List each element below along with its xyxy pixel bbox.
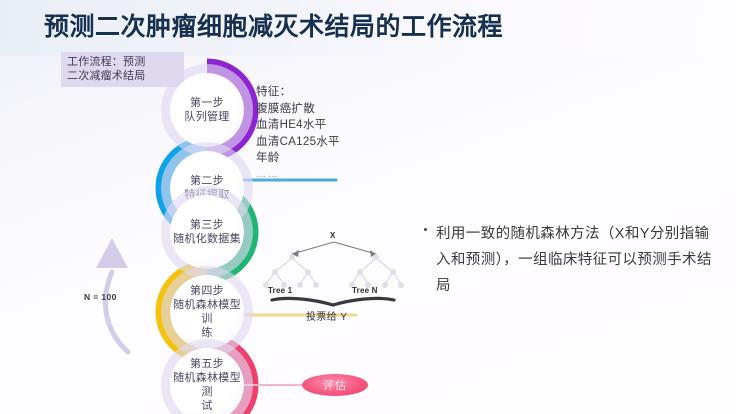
feature-ellipsis: ……	[256, 167, 340, 184]
tree-n-label: Tree N	[352, 286, 378, 295]
feature-item-2: 血清CA125水平	[256, 134, 340, 151]
evaluation-pill[interactable]: 评估	[302, 374, 368, 396]
node-step-5-line2: 随机森林模型测	[170, 371, 244, 399]
bullet-block: 利用一致的随机森林方法（X和Y分别指输入和预测），一组临床特征可以预测手术结局	[424, 221, 716, 299]
slide-canvas: 预测二次肿瘤细胞减灭术结局的工作流程 工作流程：预测 二次减瘤术结局	[0, 0, 736, 414]
node-step-5-line1: 第五步	[190, 357, 224, 371]
random-forest-tree-diagram	[263, 242, 404, 305]
feature-item-3: 年龄	[256, 150, 340, 167]
node-step-3-line1: 第三步	[190, 218, 224, 232]
node-step-5-line3: 试	[201, 399, 212, 413]
node-step-1-line1: 第一步	[190, 96, 224, 110]
feature-list: 特征： 腹膜癌扩散 血清HE4水平 血清CA125水平 年龄 ……	[256, 84, 340, 183]
node-step-5[interactable]: 第五步 随机森林模型测 试	[170, 348, 244, 414]
node-step-3-line2: 随机化数据集	[173, 232, 241, 246]
feature-heading: 特征：	[256, 84, 340, 101]
feature-item-1: 血清HE4水平	[256, 117, 340, 134]
tree-1-label: Tree 1	[268, 286, 292, 295]
bullet-dot-icon	[424, 228, 427, 231]
node-step-3[interactable]: 第三步 随机化数据集	[170, 195, 244, 269]
vote-y-label: 投票给 Y	[306, 308, 347, 323]
n-equals-100-label: N = 100	[84, 292, 117, 302]
feature-item-0: 腹膜癌扩散	[256, 101, 340, 118]
tree-input-x-label: X	[330, 231, 336, 240]
node-step-4[interactable]: 第四步 随机森林模型训 练	[170, 275, 244, 349]
node-step-2-line1: 第二步	[190, 174, 224, 188]
node-step-4-line1: 第四步	[190, 284, 224, 298]
bullet-text: 利用一致的随机森林方法（X和Y分别指输入和预测），一组临床特征可以预测手术结局	[436, 221, 716, 299]
node-step-4-line3: 练	[201, 326, 212, 340]
node-step-1-line2: 队列管理	[184, 110, 229, 124]
s-curve-arcs	[0, 0, 736, 414]
node-step-4-line2: 随机森林模型训	[170, 298, 244, 326]
node-step-1[interactable]: 第一步 队列管理	[170, 73, 244, 147]
